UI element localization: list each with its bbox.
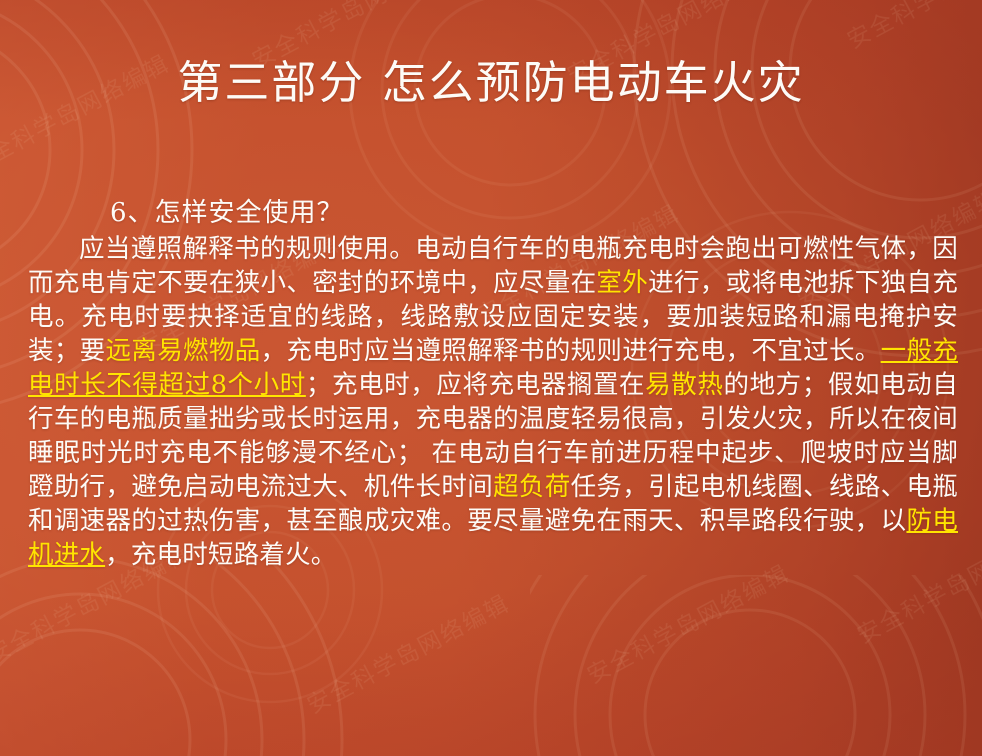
presentation-slide: 安全科学岛网络编辑 安全科学岛网络编辑 安全科学岛网络编辑 安全科学岛网络编辑 … xyxy=(0,0,982,756)
highlighted-phrase: 超负荷 xyxy=(493,472,571,502)
highlighted-phrase: 远离易燃物品 xyxy=(106,336,261,366)
highlighted-phrase: 室外 xyxy=(596,268,648,298)
body-text-run: ，充电时短路着火。 xyxy=(105,540,336,570)
body-text-run: ，充电时应当遵照解释书的规则进行充电，不宜过长。 xyxy=(261,336,881,366)
body-paragraph: 应当遵照解释书的规则使用。电动自行车的电瓶充电时会跑出可燃性气体，因而充电肯定不… xyxy=(28,232,958,572)
highlighted-phrase: 易散热 xyxy=(645,370,723,400)
slide-content: 第三部分 怎么预防电动车火灾 6、怎样安全使用？ 应当遵照解释书的规则使用。电动… xyxy=(0,0,982,756)
page-title: 第三部分 怎么预防电动车火灾 xyxy=(0,56,982,109)
body-text-run: ；充电时，应将充电器搁置在 xyxy=(306,370,645,400)
section-subheading: 6、怎样安全使用？ xyxy=(110,192,344,229)
